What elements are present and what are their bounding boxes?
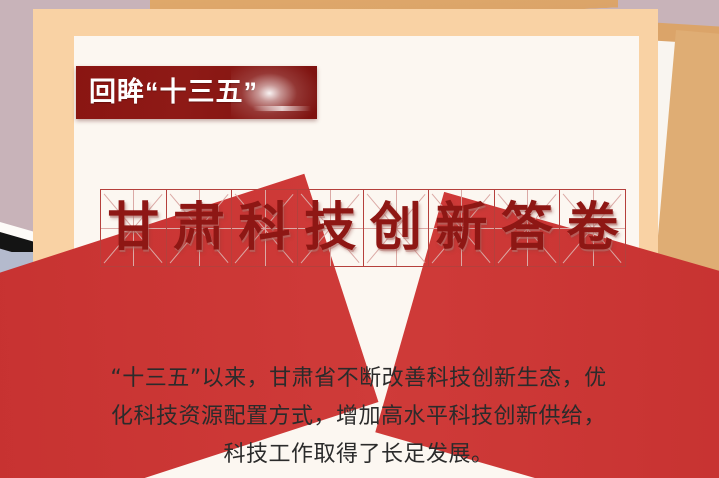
title-grid-cell: 卷 [560,190,625,266]
title-grid-cell: 答 [495,190,561,266]
title-character: 创 [364,190,429,266]
title-character-grid: 甘肃科技创新答卷 [100,189,626,267]
title-character: 卷 [560,190,625,266]
title-grid-cell: 技 [298,190,364,266]
title-character: 甘 [101,190,166,266]
poster-root: 回眸“十三五” 甘肃科技创新答卷 “十三五”以来，甘肃省不断改善科技创新生态，优… [0,0,719,478]
title-grid-cell: 新 [429,190,495,266]
title-character: 答 [495,190,560,266]
title-grid-cell: 肃 [167,190,233,266]
title-character: 肃 [167,190,232,266]
title-character: 技 [298,190,363,266]
title-grid-cell: 甘 [101,190,167,266]
title-character: 新 [429,190,494,266]
title-grid-cell: 科 [232,190,298,266]
body-paragraph: “十三五”以来，甘肃省不断改善科技创新生态，优化科技资源配置方式，增加高水平科技… [106,360,611,474]
banner-label: 回眸“十三五” [89,74,258,111]
section-banner: 回眸“十三五” [76,66,317,119]
lens-flare-streak-icon [253,106,311,111]
title-grid-cell: 创 [364,190,430,266]
title-character: 科 [232,190,297,266]
